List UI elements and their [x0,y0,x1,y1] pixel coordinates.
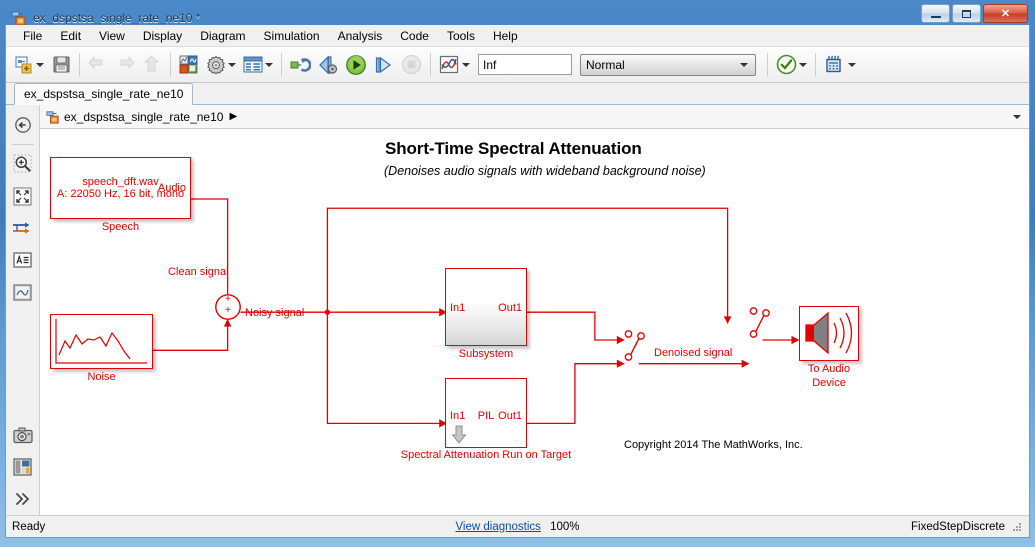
toolbar-separator [170,53,171,77]
subsystem-block[interactable]: In1 Out1 [445,268,527,346]
model-configuration-button[interactable] [203,51,239,79]
noise-source-block-label: Noise [50,371,153,383]
zoom-level: 100% [550,521,579,533]
chevron-down-icon[interactable] [740,63,748,67]
tool-bar: Normal [6,47,1029,83]
menu-code[interactable]: Code [391,27,438,45]
sidebar-signal-routing[interactable] [10,215,36,241]
maximize-button[interactable] [952,4,981,23]
maximize-icon [962,10,971,18]
update-model-button[interactable] [287,51,314,79]
close-button[interactable]: ✕ [983,4,1028,23]
menu-analysis[interactable]: Analysis [329,27,392,45]
up-to-parent-button[interactable] [139,51,165,79]
build-model-button[interactable] [821,51,859,79]
menu-tools[interactable]: Tools [438,27,484,45]
to-audio-device-label-line1: To Audio [799,363,859,375]
sum-block[interactable]: + + [214,293,242,321]
sidebar-separator [12,144,34,145]
chevron-down-icon[interactable] [228,63,236,67]
menu-display[interactable]: Display [134,27,191,45]
back-button[interactable] [85,51,111,79]
stop-button[interactable] [398,51,425,79]
simulation-mode-select[interactable]: Normal [580,54,756,76]
canvas-column: ex_dspstsa_single_rate_ne10 ▶ Short-Time… [40,105,1029,515]
speech-source-block[interactable]: speech_dft.wav A: 22050 Hz, 16 bit, mono… [50,157,191,219]
minimize-icon [931,16,941,18]
speech-source-block-label: Speech [50,221,191,233]
simulink-model-icon [46,110,60,124]
sidebar-navigate-back[interactable] [10,112,36,138]
signal-label-denoised: Denoised signal [654,347,732,359]
chevron-down-icon[interactable] [848,63,856,67]
menu-file[interactable]: File [14,27,51,45]
tab-model[interactable]: ex_dspstsa_single_rate_ne10 [14,83,193,105]
toolbar-separator [430,53,431,77]
menu-view[interactable]: View [90,27,134,45]
view-diagnostics-link[interactable]: View diagnostics [455,521,540,533]
sidebar-zoom-in[interactable] [10,151,36,177]
save-button[interactable] [48,51,74,79]
pil-subsystem-block[interactable]: In1 PIL Out1 [445,378,527,448]
chevron-down-icon[interactable] [462,63,470,67]
status-center-group: View diagnostics 100% [6,521,1029,533]
chevron-down-icon[interactable] [799,63,807,67]
manual-switch-1[interactable] [624,324,646,366]
chevron-down-icon[interactable] [265,63,273,67]
menu-diagram[interactable]: Diagram [191,27,254,45]
signal-label-clean: Clean signal [168,266,229,278]
sidebar-scope[interactable] [10,279,36,305]
signal-label-noisy: Noisy signal [245,307,304,319]
step-forward-button[interactable] [371,51,397,79]
to-audio-device-block[interactable] [799,306,859,361]
sum-sign-top: + [225,294,231,305]
run-button[interactable] [342,51,370,79]
manual-switch-2[interactable] [749,301,771,343]
pil-download-arrow-icon [451,425,467,445]
simulation-mode-value: Normal [586,58,625,72]
window-controls: ✕ [921,4,1028,23]
minimize-button[interactable] [921,4,950,23]
speech-source-port-out: Audio [158,182,186,194]
chevron-down-icon[interactable] [36,63,44,67]
canvas-sidebar [6,105,40,515]
signal-branch-point [325,310,330,315]
toolbar-separator [281,53,282,77]
library-browser-button[interactable] [176,51,202,79]
breadcrumb: ex_dspstsa_single_rate_ne10 ▶ [40,105,1029,129]
copyright-note: Copyright 2014 The MathWorks, Inc. [624,439,803,451]
pil-port-out: Out1 [498,410,522,422]
subsystem-port-out: Out1 [498,302,522,314]
sidebar-fit-to-view[interactable] [10,183,36,209]
model-tab-strip: ex_dspstsa_single_rate_ne10 [6,83,1029,105]
subsystem-block-label: Subsystem [435,348,537,360]
stop-time-input[interactable] [478,54,572,75]
menu-simulation[interactable]: Simulation [255,27,329,45]
diagram-subtitle: (Denoises audio signals with wideband ba… [384,164,706,178]
to-audio-device-label-line2: Device [799,377,859,389]
noise-source-block[interactable] [50,314,153,369]
status-bar: Ready View diagnostics 100% FixedStepDis… [6,515,1029,537]
pil-subsystem-block-label: Spectral Attenuation Run on Target [376,449,596,461]
toolbar-separator [815,53,816,77]
sum-sign-bottom: + [225,305,231,316]
model-canvas[interactable]: Short-Time Spectral Attenuation (Denoise… [40,129,1029,515]
breadcrumb-chevron-down-icon[interactable] [1013,115,1021,119]
toolbar-separator [79,53,80,77]
subsystem-port-in: In1 [450,302,465,314]
model-advisor-button[interactable] [773,51,810,79]
new-model-button[interactable] [11,51,47,79]
editor-body: ex_dspstsa_single_rate_ne10 ▶ Short-Time… [6,105,1029,515]
model-explorer-button[interactable] [240,51,276,79]
speaker-icon [800,307,858,360]
forward-button[interactable] [112,51,138,79]
sidebar-layout[interactable] [10,454,36,480]
noise-waveform-icon [51,315,152,368]
diagram-title: Short-Time Spectral Attenuation [385,139,642,159]
simulink-model-icon [11,10,27,26]
toolbar-separator [767,53,768,77]
window-title: ex_dspstsa_single_rate_ne10 * [33,11,200,25]
breadcrumb-separator-icon: ▶ [229,111,237,122]
sidebar-screenshot[interactable] [10,422,36,448]
fast-restart-button[interactable] [315,51,341,79]
menu-bar: File Edit View Display Diagram Simulatio… [6,25,1029,47]
breadcrumb-path[interactable]: ex_dspstsa_single_rate_ne10 [64,110,223,124]
sidebar-annotation[interactable] [10,247,36,273]
client-area: File Edit View Display Diagram Simulatio… [5,25,1030,538]
menu-help[interactable]: Help [484,27,527,45]
sidebar-expand[interactable] [10,486,36,512]
simulink-window: ex_dspstsa_single_rate_ne10 * ✕ File Edi… [0,0,1035,547]
simulation-data-inspector-button[interactable] [436,51,473,79]
menu-edit[interactable]: Edit [51,27,90,45]
